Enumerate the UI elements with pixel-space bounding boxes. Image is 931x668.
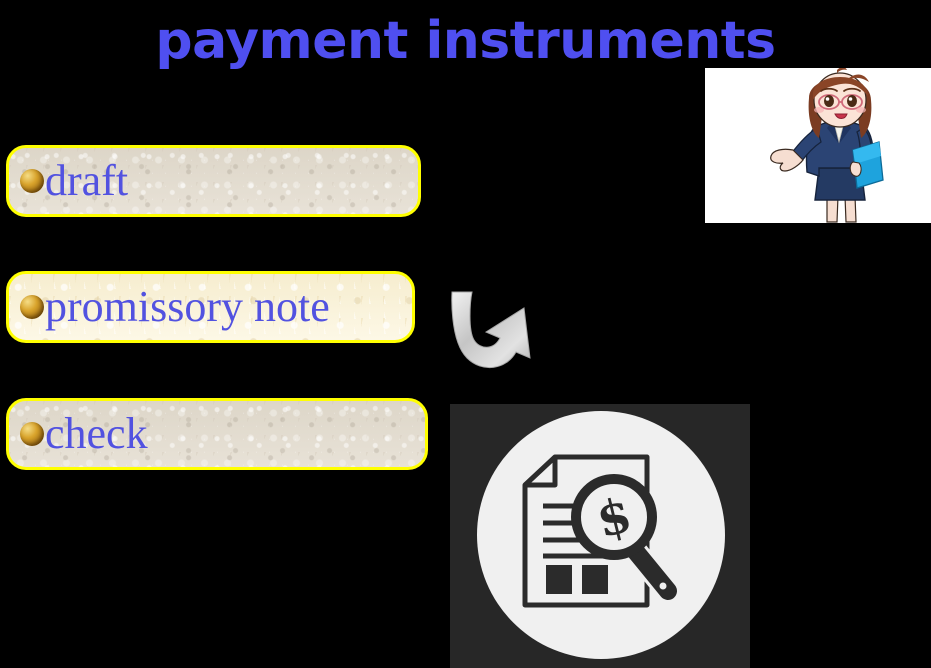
gold-sphere-bullet-icon [20,295,44,319]
bullet-box-check[interactable]: check [6,398,428,470]
curved-u-turn-arrow-icon [446,288,554,380]
bullet-label: draft [45,159,128,203]
gold-sphere-bullet-icon [20,169,44,193]
businesswoman-image-panel [705,68,931,223]
document-magnifier-dollar-icon: $ [472,406,730,664]
gold-sphere-bullet-icon [20,422,44,446]
bullet-box-draft[interactable]: draft [6,145,421,217]
bullet-label: check [45,412,148,456]
bullet-box-promissory-note[interactable]: promissory note [6,271,415,343]
page-title: payment instruments [0,14,931,69]
bullet-label: promissory note [45,285,330,329]
slide-canvas: payment instruments draft promissory not… [0,0,931,668]
businesswoman-presenter-illustration [749,68,929,223]
finance-icon-panel: $ [450,404,750,668]
